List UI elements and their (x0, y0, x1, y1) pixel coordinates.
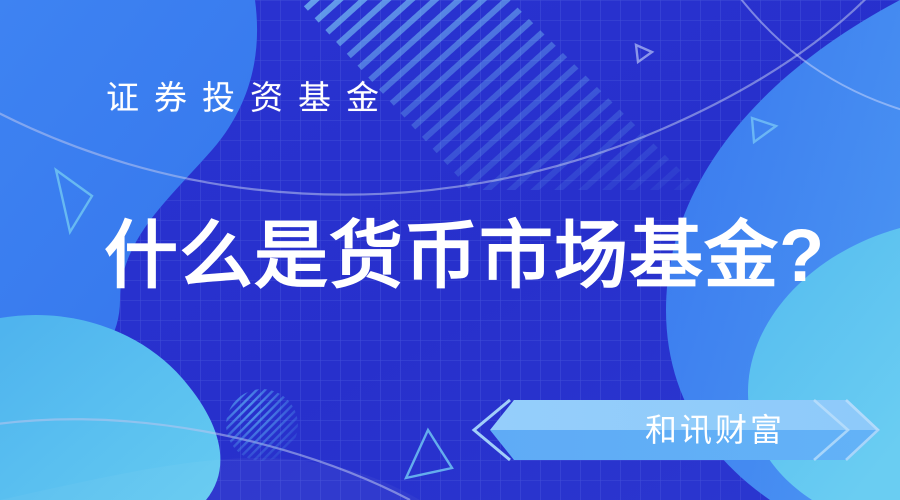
promo-banner: 证券投资基金 什么是货币市场基金? (0, 0, 900, 500)
brand-ribbon: 和讯财富 (462, 384, 900, 476)
brand-label: 和讯财富 (570, 402, 860, 458)
striped-circle-decor (226, 389, 298, 461)
